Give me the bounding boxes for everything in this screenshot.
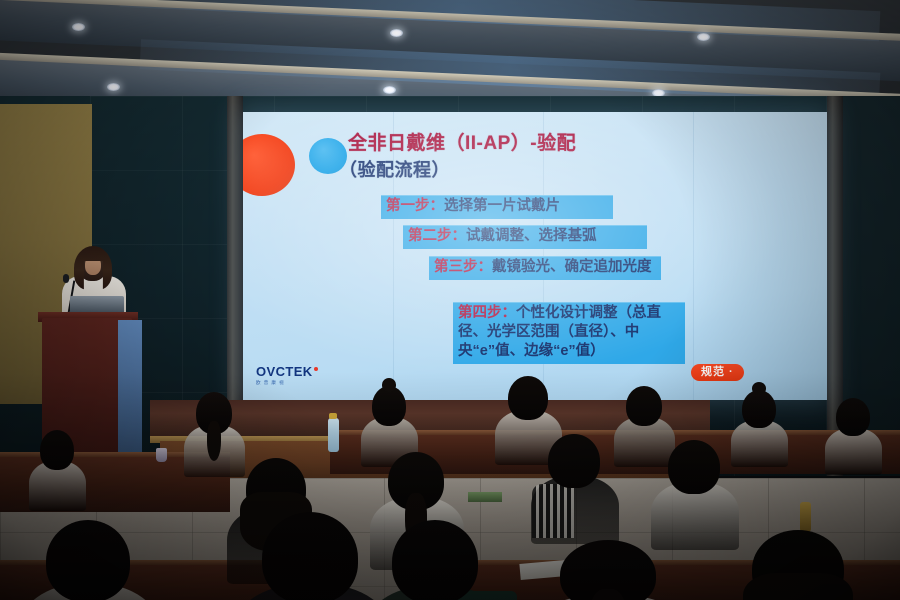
slide-step-3: 第三步：戴镜验光、确定追加光度 bbox=[429, 256, 661, 280]
slide-step-2: 第二步：试戴调整、选择基弧 bbox=[403, 225, 647, 249]
audience-head bbox=[836, 398, 870, 436]
step-3-text: 戴镜验光、确定追加光度 bbox=[492, 259, 652, 275]
audience-head bbox=[508, 376, 548, 420]
audience-head bbox=[392, 520, 478, 600]
audience-head bbox=[668, 440, 720, 494]
step-2-text: 试戴调整、选择基弧 bbox=[466, 228, 597, 244]
ceiling-spotlight-2 bbox=[390, 29, 403, 37]
step-2-label: 第二步： bbox=[408, 228, 466, 244]
hair-bun bbox=[382, 378, 396, 392]
slide-red-banner: 规范 · bbox=[691, 364, 744, 381]
audience-head bbox=[262, 512, 358, 600]
decorative-orange-circle bbox=[243, 134, 295, 196]
audience-head bbox=[372, 386, 406, 426]
audience-head bbox=[548, 434, 600, 488]
lecture-hall-photo: 全非日戴维（II-AP）-验配 （验配流程） 第一步：选择第一片试戴片 第二步：… bbox=[0, 0, 900, 600]
striped-top bbox=[532, 484, 574, 538]
step-4-label: 第四步： bbox=[458, 305, 516, 321]
step-1-label: 第一步： bbox=[386, 198, 444, 214]
ceiling-spotlight-5 bbox=[383, 86, 396, 94]
audience-head bbox=[742, 390, 776, 428]
projection-screen[interactable]: 全非日戴维（II-AP）-验配 （验配流程） 第一步：选择第一片试戴片 第二步：… bbox=[243, 112, 827, 400]
thermos bbox=[800, 502, 811, 532]
slide-subtitle: （验配流程） bbox=[339, 156, 450, 182]
ceiling-spotlight-1 bbox=[72, 23, 85, 31]
paper-cup bbox=[156, 448, 167, 462]
water-bottle bbox=[328, 418, 339, 452]
ceiling-spotlight-4 bbox=[107, 83, 120, 91]
notebook bbox=[468, 492, 502, 502]
slide-step-4: 第四步：个性化设计调整（总直径、光学区范围（直径）、中央“e”值、边缘“e”值） bbox=[453, 302, 685, 364]
audience-head bbox=[46, 520, 130, 600]
ceiling-spotlight-3 bbox=[697, 33, 710, 41]
logo-subtext: 欧普康视 bbox=[256, 380, 318, 386]
microphone-icon bbox=[63, 274, 69, 283]
ovctek-logo: OVCTEK 欧普康视 bbox=[256, 364, 318, 386]
step-1-text: 选择第一片试戴片 bbox=[444, 198, 560, 214]
logo-dot-icon bbox=[314, 367, 318, 371]
long-hair bbox=[743, 573, 853, 600]
slide-title: 全非日戴维（II-AP）-验配 bbox=[348, 132, 818, 155]
audience-head bbox=[40, 430, 74, 470]
bottle-cap bbox=[329, 413, 337, 419]
slide-step-1: 第一步：选择第一片试戴片 bbox=[381, 195, 613, 219]
step-3-label: 第三步： bbox=[434, 259, 492, 275]
logo-wordmark: OVCTEK bbox=[256, 364, 313, 379]
screen-seam bbox=[693, 112, 694, 400]
audience-head bbox=[626, 386, 662, 426]
